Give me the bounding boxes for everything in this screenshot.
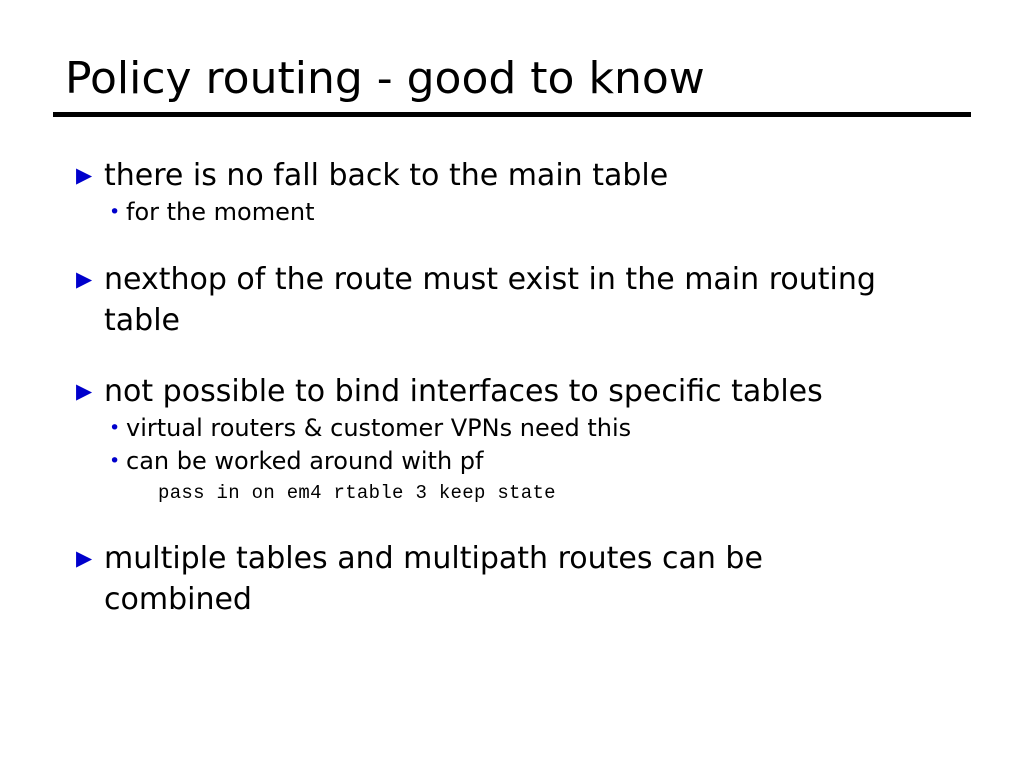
bullet-item-level1: ▶ multiple tables and multipath routes c… bbox=[76, 538, 956, 620]
bullet-text: nexthop of the route must exist in the m… bbox=[104, 259, 894, 341]
slide-body: ▶ there is no fall back to the main tabl… bbox=[76, 155, 956, 620]
title-block: Policy routing - good to know bbox=[53, 52, 971, 117]
bullet-item-level2: • for the moment bbox=[76, 196, 956, 229]
slide: Policy routing - good to know ▶ there is… bbox=[0, 0, 1024, 768]
bullet-text: there is no fall back to the main table bbox=[104, 155, 894, 196]
subbullet-text: can be worked around with pf bbox=[126, 445, 956, 478]
subbullet-text: virtual routers & customer VPNs need thi… bbox=[126, 412, 956, 445]
triangle-bullet-icon: ▶ bbox=[76, 538, 104, 579]
bullet-group: ▶ nexthop of the route must exist in the… bbox=[76, 259, 956, 341]
bullet-item-level1: ▶ nexthop of the route must exist in the… bbox=[76, 259, 956, 341]
code-snippet: pass in on em4 rtable 3 keep state bbox=[76, 478, 956, 508]
bullet-item-level1: ▶ not possible to bind interfaces to spe… bbox=[76, 371, 956, 412]
triangle-bullet-icon: ▶ bbox=[76, 155, 104, 196]
bullet-group: ▶ multiple tables and multipath routes c… bbox=[76, 538, 956, 620]
bullet-group: ▶ not possible to bind interfaces to spe… bbox=[76, 371, 956, 508]
bullet-item-level1: ▶ there is no fall back to the main tabl… bbox=[76, 155, 956, 196]
bullet-text: not possible to bind interfaces to speci… bbox=[104, 371, 894, 412]
triangle-bullet-icon: ▶ bbox=[76, 371, 104, 412]
dot-bullet-icon: • bbox=[109, 445, 126, 478]
dot-bullet-icon: • bbox=[109, 196, 126, 229]
bullet-item-level2: • virtual routers & customer VPNs need t… bbox=[76, 412, 956, 445]
subbullet-text: for the moment bbox=[126, 196, 956, 229]
title-divider bbox=[53, 112, 971, 117]
bullet-item-level2: • can be worked around with pf bbox=[76, 445, 956, 478]
dot-bullet-icon: • bbox=[109, 412, 126, 445]
triangle-bullet-icon: ▶ bbox=[76, 259, 104, 300]
bullet-group: ▶ there is no fall back to the main tabl… bbox=[76, 155, 956, 229]
bullet-text: multiple tables and multipath routes can… bbox=[104, 538, 894, 620]
page-title: Policy routing - good to know bbox=[53, 52, 971, 106]
